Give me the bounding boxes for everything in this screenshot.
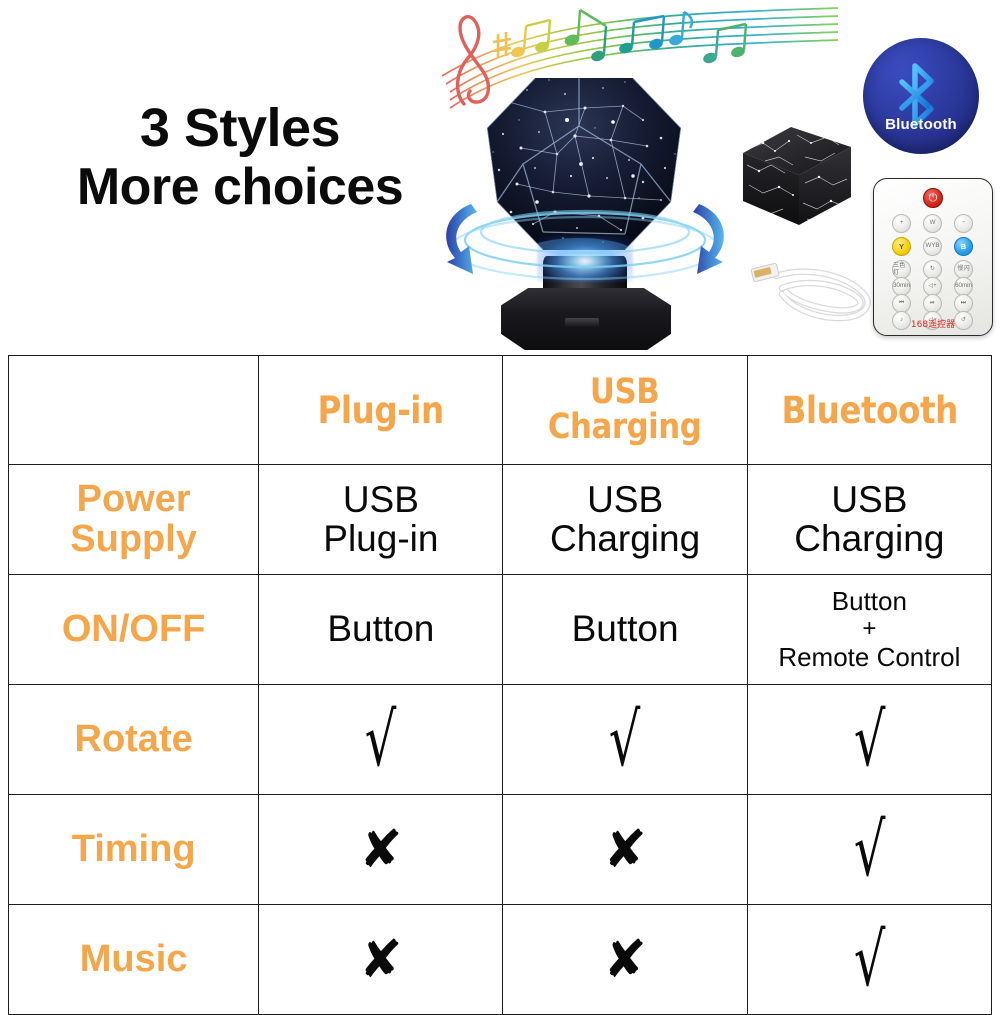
- row-label-rotate: Rotate: [9, 685, 259, 795]
- remote-button-w[interactable]: W: [923, 214, 942, 233]
- cell-rotate-bluetooth: √: [747, 685, 991, 795]
- cell-music-bluetooth: √: [747, 905, 991, 1015]
- cell-power-supply-plug-in: USB Plug-in: [259, 465, 503, 575]
- check-icon: √: [287, 703, 475, 776]
- cell-text-line-2: Charging: [752, 520, 987, 558]
- music-label: Music: [13, 940, 254, 980]
- remote-model-caption: 168遥控器: [873, 317, 993, 330]
- bluetooth-badge-label: Bluetooth: [863, 116, 979, 133]
- table-row-power-supply: Power Supply USB Plug-in USB Charging US…: [9, 465, 992, 575]
- remote-button-power[interactable]: ⏻: [923, 188, 943, 208]
- cell-text-line-1: Button: [832, 586, 907, 616]
- cell-timing-plug-in: ✘: [259, 795, 503, 905]
- row-label-music: Music: [9, 905, 259, 1015]
- cell-power-supply-usb-charging: USB Charging: [503, 465, 747, 575]
- column-header-usb-charging: USB Charging: [503, 356, 747, 465]
- timing-label: Timing: [13, 830, 254, 870]
- product-hero-image: 3 Styles More choices: [0, 0, 1000, 355]
- page-title: 3 Styles More choices: [40, 98, 440, 217]
- cell-timing-bluetooth: √: [747, 795, 991, 905]
- table-row-on-off: ON/OFF Button Button Button + Remote Con…: [9, 575, 992, 685]
- power-supply-line-2: Supply: [13, 520, 254, 560]
- cell-music-plug-in: ✘: [259, 905, 503, 1015]
- cell-text: Button: [507, 610, 742, 648]
- check-icon: √: [775, 813, 963, 886]
- usb-charging-line-2: Charging: [522, 410, 729, 445]
- cell-on-off-usb-charging: Button: [503, 575, 747, 685]
- cell-timing-usb-charging: ✘: [503, 795, 747, 905]
- rotation-arrows-icon: [425, 178, 745, 298]
- cell-text-plus: +: [752, 616, 987, 643]
- cell-text-line-1: USB: [587, 479, 663, 520]
- cell-text-line-2: Plug-in: [263, 520, 498, 558]
- cell-on-off-plug-in: Button: [259, 575, 503, 685]
- remote-button-wyb[interactable]: WYB: [923, 237, 942, 256]
- cross-icon: ✘: [263, 934, 498, 986]
- table-row-rotate: Rotate √ √ √: [9, 685, 992, 795]
- power-supply-line-1: Power: [77, 478, 191, 520]
- check-icon: √: [775, 703, 963, 776]
- cell-rotate-plug-in: √: [259, 685, 503, 795]
- column-header-usb-charging-label: USB Charging: [522, 375, 729, 445]
- on-off-label: ON/OFF: [13, 610, 254, 650]
- cell-music-usb-charging: ✘: [503, 905, 747, 1015]
- bluetooth-badge: Bluetooth: [863, 38, 979, 154]
- table-corner-cell: [9, 356, 259, 465]
- remote-button-minus[interactable]: −: [954, 214, 973, 233]
- check-icon: √: [775, 923, 963, 996]
- remote-button-y[interactable]: Y: [892, 237, 911, 256]
- column-header-bluetooth: Bluetooth: [747, 356, 991, 465]
- remote-button-plus[interactable]: +: [892, 214, 911, 233]
- cell-text-line-1: USB: [343, 479, 419, 520]
- constellation-gift-box: [735, 123, 857, 231]
- cell-text-line-1: USB: [831, 479, 907, 520]
- column-header-plug-in-label: Plug-in: [277, 392, 484, 429]
- cell-text-line-3: Remote Control: [752, 643, 987, 672]
- headline-line-2: More choices: [40, 158, 440, 216]
- row-label-timing: Timing: [9, 795, 259, 905]
- remote-button-b[interactable]: B: [954, 237, 973, 256]
- cell-rotate-usb-charging: √: [503, 685, 747, 795]
- table-row-music: Music ✘ ✘ √: [9, 905, 992, 1015]
- check-icon: √: [531, 703, 719, 776]
- row-label-on-off: ON/OFF: [9, 575, 259, 685]
- cell-power-supply-bluetooth: USB Charging: [747, 465, 991, 575]
- star-projector-lamp: [443, 60, 728, 355]
- headline-line-1: 3 Styles: [40, 98, 440, 158]
- cross-icon: ✘: [263, 824, 498, 876]
- remote-control: ⏻ + W − Y WYB B 三色灯 ↻ 慢闪 30min ◁+ 60min …: [873, 178, 993, 336]
- usb-charging-line-1: USB: [590, 372, 659, 412]
- feature-comparison-table: Plug-in USB Charging Bluetooth Power Sup…: [8, 355, 992, 1015]
- cell-on-off-bluetooth: Button + Remote Control: [747, 575, 991, 685]
- row-label-power-supply: Power Supply: [9, 465, 259, 575]
- cell-text: Button: [263, 610, 498, 648]
- usb-charging-cable: [742, 248, 882, 334]
- table-header-row: Plug-in USB Charging Bluetooth: [9, 356, 992, 465]
- cell-text-line-2: Charging: [507, 520, 742, 558]
- table-row-timing: Timing ✘ ✘ √: [9, 795, 992, 905]
- cross-icon: ✘: [507, 934, 742, 986]
- cross-icon: ✘: [507, 824, 742, 876]
- column-header-bluetooth-label: Bluetooth: [766, 392, 973, 429]
- rotate-label: Rotate: [13, 720, 254, 760]
- column-header-plug-in: Plug-in: [259, 356, 503, 465]
- lamp-base-port: [565, 318, 599, 327]
